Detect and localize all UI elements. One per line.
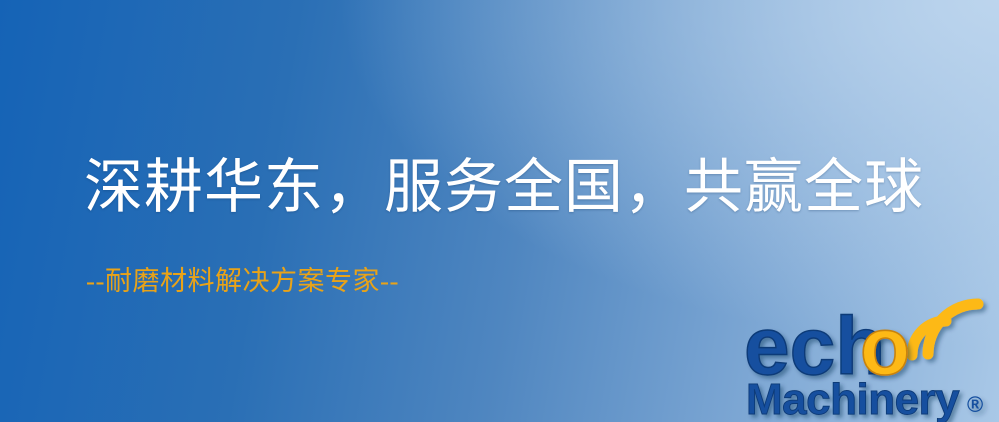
hero-banner: 深耕华东，服务全国，共赢全球 --耐磨材料解决方案专家-- ech o — [0, 0, 999, 422]
logo-trademark: ® — [967, 392, 983, 417]
signal-waves-icon — [912, 304, 978, 355]
banner-subtitle: --耐磨材料解决方案专家-- — [86, 264, 399, 298]
company-logo[interactable]: ech o Machinery ® — [742, 292, 999, 422]
logo-tagline: Machinery — [746, 375, 960, 422]
banner-headline: 深耕华东，服务全国，共赢全球 — [84, 152, 924, 222]
